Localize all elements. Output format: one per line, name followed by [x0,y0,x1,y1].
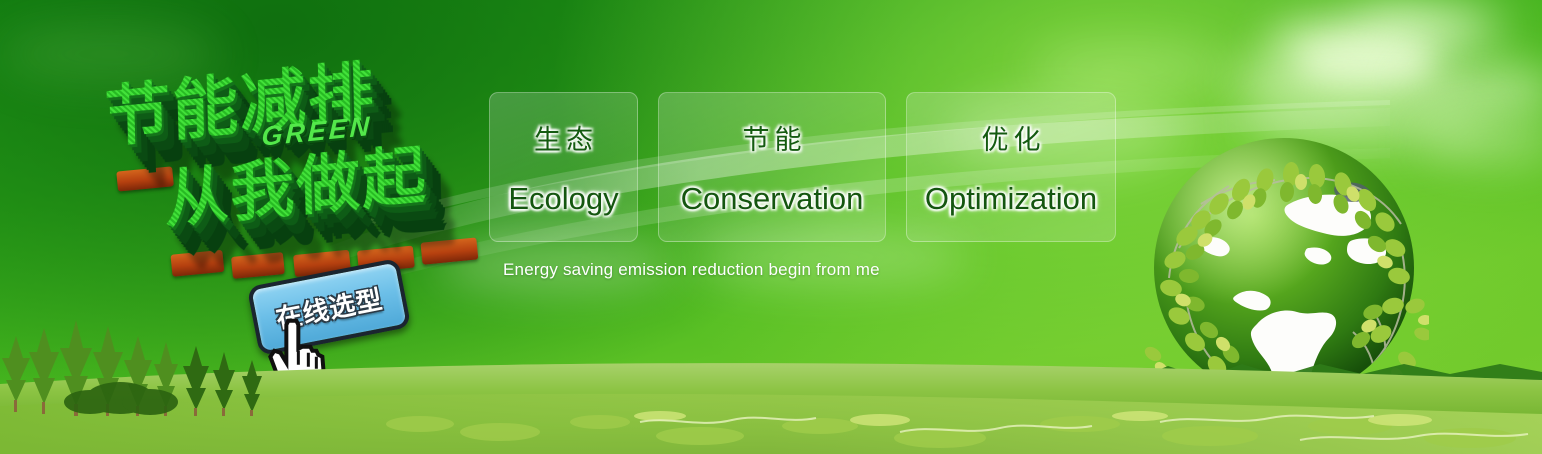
feature-card-title-en: Conservation [681,181,864,217]
banner-tagline: Energy saving emission reduction begin f… [503,260,880,280]
feature-cards: 生态 Ecology 节能 Conservation 优化 Optimizati… [489,92,1116,242]
hero-base-block [170,250,224,277]
green-energy-banner: 节能减排 GREEN 从我做起 在线选型 生态 Ecology 节能 Conse… [0,0,1542,454]
cta-label: 在线选型 [272,279,385,336]
feature-card-title-cn: 生态 [529,118,598,157]
feature-card-title-cn: 节能 [738,118,807,157]
leafy-earth-globe-icon [1139,128,1429,420]
feature-card-conservation[interactable]: 节能 Conservation [658,92,886,242]
feature-card-title-cn: 优化 [977,118,1046,157]
feature-card-optimization[interactable]: 优化 Optimization [906,92,1116,242]
feature-card-ecology[interactable]: 生态 Ecology [489,92,638,242]
hero-base-block [420,237,478,264]
feature-card-title-en: Optimization [925,181,1097,217]
hero-base-block [231,252,285,279]
feature-card-title-en: Ecology [508,181,618,217]
hero-headline-art: 节能减排 GREEN 从我做起 [94,26,506,295]
